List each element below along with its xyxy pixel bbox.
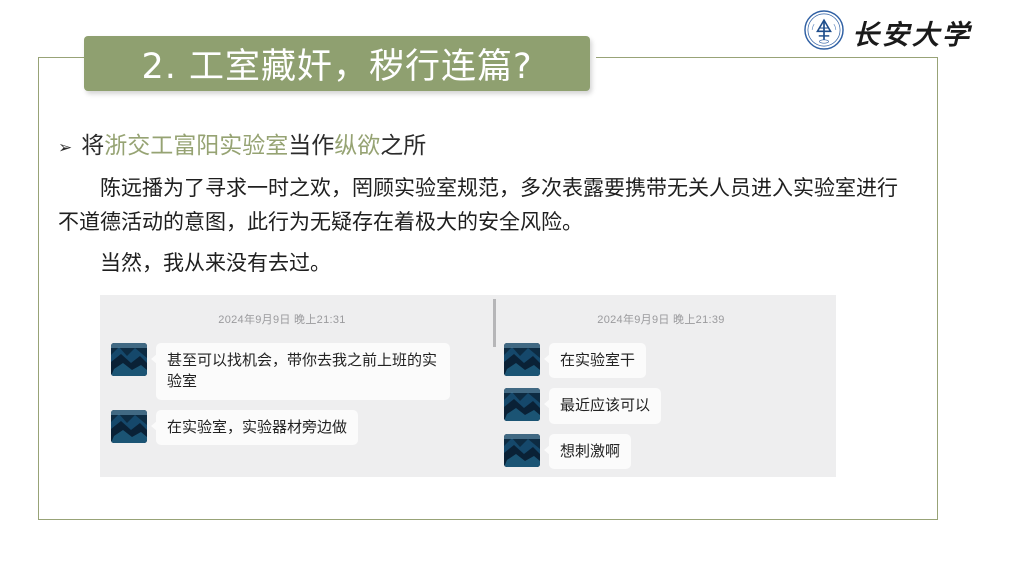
chat-bubble: 想刺激啊 <box>549 434 631 469</box>
mountain-lake-photo-avatar <box>111 410 147 443</box>
bullet-segment-1: 浙交工富阳实验室 <box>104 126 288 160</box>
chat-bubble: 最近应该可以 <box>549 388 661 423</box>
chat-timestamp: 2024年9月9日 晚上21:31 <box>111 311 493 327</box>
slide-title-banner: 2. 工室藏奸，秽行连篇? <box>84 36 590 91</box>
page-title: 2. 工室藏奸，秽行连篇? <box>141 38 532 89</box>
body-paragraph-1: 陈远播为了寻求一时之欢，罔顾实验室规范，多次表露要携带无关人员进入实验室进行不道… <box>58 172 918 240</box>
chat-message-row: 在实验室干 <box>504 343 836 378</box>
bullet-segment-0: 将 <box>81 126 104 160</box>
chat-column-left: 2024年9月9日 晚上21:31 甚至可以找机会，带你去我之前上班的实验室 <box>100 295 493 477</box>
bullet-segment-2: 当作 <box>288 126 334 160</box>
chat-bubble: 在实验室，实验器材旁边做 <box>156 410 358 445</box>
bullet-segment-3: 纵欲 <box>334 126 380 160</box>
body-paragraph-2: 当然，我从来没有去过。 <box>58 247 918 281</box>
chat-screenshot-panel: 2024年9月9日 晚上21:31 甚至可以找机会，带你去我之前上班的实验室 <box>100 295 836 477</box>
mountain-lake-photo-avatar <box>504 343 540 376</box>
slide-content: ➢ 将 浙交工富阳实验室 当作 纵欲 之所 陈远播为了寻求一时之欢，罔顾实验室规… <box>58 126 918 281</box>
chat-message-row: 在实验室，实验器材旁边做 <box>111 410 493 445</box>
chat-message-row: 想刺激啊 <box>504 434 836 469</box>
mountain-lake-photo-avatar <box>111 343 147 376</box>
university-wordmark: 长安大学 <box>852 13 972 52</box>
bullet-segment-4: 之所 <box>380 126 426 160</box>
bullet-heading: ➢ 将 浙交工富阳实验室 当作 纵欲 之所 <box>58 126 918 160</box>
mountain-lake-photo-avatar <box>504 388 540 421</box>
mountain-lake-photo-avatar <box>504 434 540 467</box>
chat-message-row: 甚至可以找机会，带你去我之前上班的实验室 <box>111 343 493 400</box>
chat-bubble: 甚至可以找机会，带你去我之前上班的实验室 <box>156 343 450 400</box>
changan-university-seal-icon <box>803 9 845 56</box>
chat-column-right: 2024年9月9日 晚上21:39 在实验室干 <box>493 295 836 477</box>
chat-timestamp: 2024年9月9日 晚上21:39 <box>504 311 836 327</box>
bullet-arrow-icon: ➢ <box>58 138 72 158</box>
chat-message-row: 最近应该可以 <box>504 388 836 423</box>
university-logo: 长安大学 <box>803 9 972 56</box>
chat-bubble: 在实验室干 <box>549 343 646 378</box>
